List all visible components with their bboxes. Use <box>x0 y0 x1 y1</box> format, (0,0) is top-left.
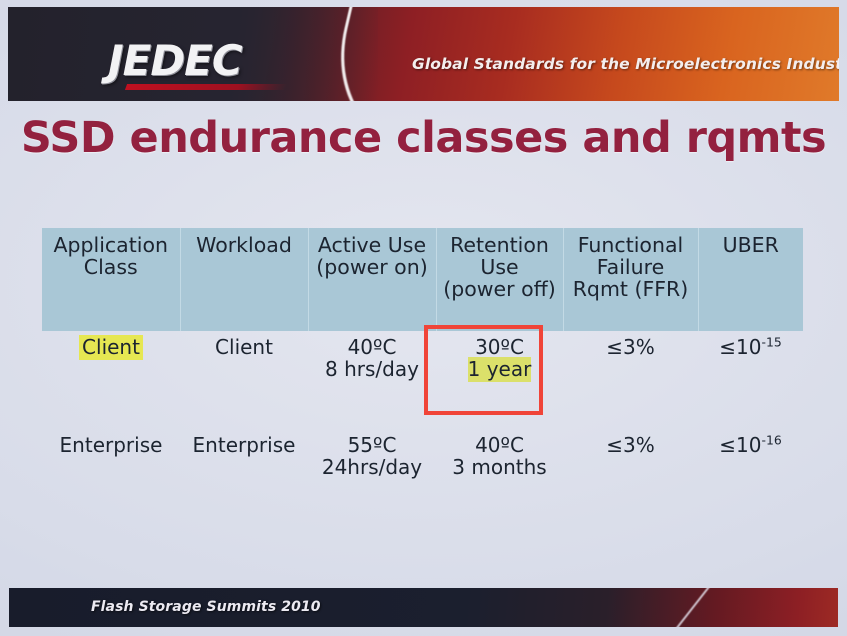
jedec-logo-underline <box>125 84 287 90</box>
cell-uber: ≤10-16 <box>698 429 803 530</box>
banner-swoosh-decoration <box>315 7 685 101</box>
header-line-1: Workload <box>181 234 308 256</box>
retention-duration: 3 months <box>436 456 563 478</box>
header-line-2: Use <box>437 256 563 278</box>
presentation-slide: JEDEC Global Standards for the Microelec… <box>0 0 847 636</box>
header-line-3: (power off) <box>437 278 563 300</box>
cell-functional-failure-rqmt: ≤3% <box>563 429 698 530</box>
column-header-active-use: Active Use (power on) <box>308 228 436 331</box>
column-header-functional-failure-rqmt: Functional Failure Rqmt (FFR) <box>563 228 698 331</box>
cell-uber: ≤10-15 <box>698 331 803 429</box>
header-line-2: Class <box>42 256 180 278</box>
table-header-row: Application Class Workload Active Use (p… <box>42 228 803 331</box>
header-line-2: (power on) <box>309 256 436 278</box>
header-line-1: Application <box>42 234 180 256</box>
cell-active-use: 40ºC 8 hrs/day <box>308 331 436 429</box>
table-row: Enterprise Enterprise 55ºC 24hrs/day 40º… <box>42 429 803 530</box>
header-line-1: Active Use <box>309 234 436 256</box>
footer-swoosh-decoration <box>652 588 721 627</box>
header-line-1: Functional <box>564 234 698 256</box>
cell-functional-failure-rqmt: ≤3% <box>563 331 698 429</box>
column-header-workload: Workload <box>180 228 308 331</box>
uber-base: ≤10 <box>719 433 761 457</box>
column-header-application-class: Application Class <box>42 228 180 331</box>
slide-title: SSD endurance classes and rqmts <box>0 113 847 163</box>
uber-base: ≤10 <box>719 335 761 359</box>
uber-exponent: -16 <box>761 432 781 447</box>
active-use-duty-cycle: 24hrs/day <box>308 456 436 478</box>
column-header-retention-use: Retention Use (power off) <box>436 228 563 331</box>
header-line-1: Retention <box>437 234 563 256</box>
cell-active-use: 55ºC 24hrs/day <box>308 429 436 530</box>
cell-application-class: Client <box>42 331 180 429</box>
active-use-duty-cycle: 8 hrs/day <box>308 358 436 380</box>
active-use-temperature: 40ºC <box>308 336 436 358</box>
retention-temperature: 30ºC <box>436 336 563 358</box>
cell-retention-use: 40ºC 3 months <box>436 429 563 530</box>
cell-application-class: Enterprise <box>42 429 180 530</box>
table-row: Client Client 40ºC 8 hrs/day 30ºC 1 year… <box>42 331 803 429</box>
cell-workload: Enterprise <box>180 429 308 530</box>
cell-workload: Client <box>180 331 308 429</box>
ssd-endurance-table: Application Class Workload Active Use (p… <box>42 228 803 530</box>
jedec-wordmark-text: JEDEC <box>108 40 286 82</box>
retention-temperature: 40ºC <box>436 434 563 456</box>
header-line-1: UBER <box>699 234 804 256</box>
cell-retention-use: 30ºC 1 year <box>436 331 563 429</box>
header-line-3: Rqmt (FFR) <box>564 278 698 300</box>
footer-event-label: Flash Storage Summits 2010 <box>91 599 321 615</box>
active-use-temperature: 55ºC <box>308 434 436 456</box>
column-header-uber: UBER <box>698 228 803 331</box>
header-line-2: Failure <box>564 256 698 278</box>
retention-duration-highlight: 1 year <box>468 357 532 382</box>
highlighted-client-label: Client <box>79 335 143 360</box>
uber-exponent: -15 <box>761 334 781 349</box>
retention-duration: 1 year <box>436 358 563 380</box>
slide-footer-banner: Flash Storage Summits 2010 <box>9 588 838 627</box>
banner-tagline-text: Global Standards for the Microelectronic… <box>412 55 839 73</box>
jedec-header-banner: JEDEC Global Standards for the Microelec… <box>8 7 839 101</box>
jedec-logo: JEDEC <box>108 40 286 90</box>
